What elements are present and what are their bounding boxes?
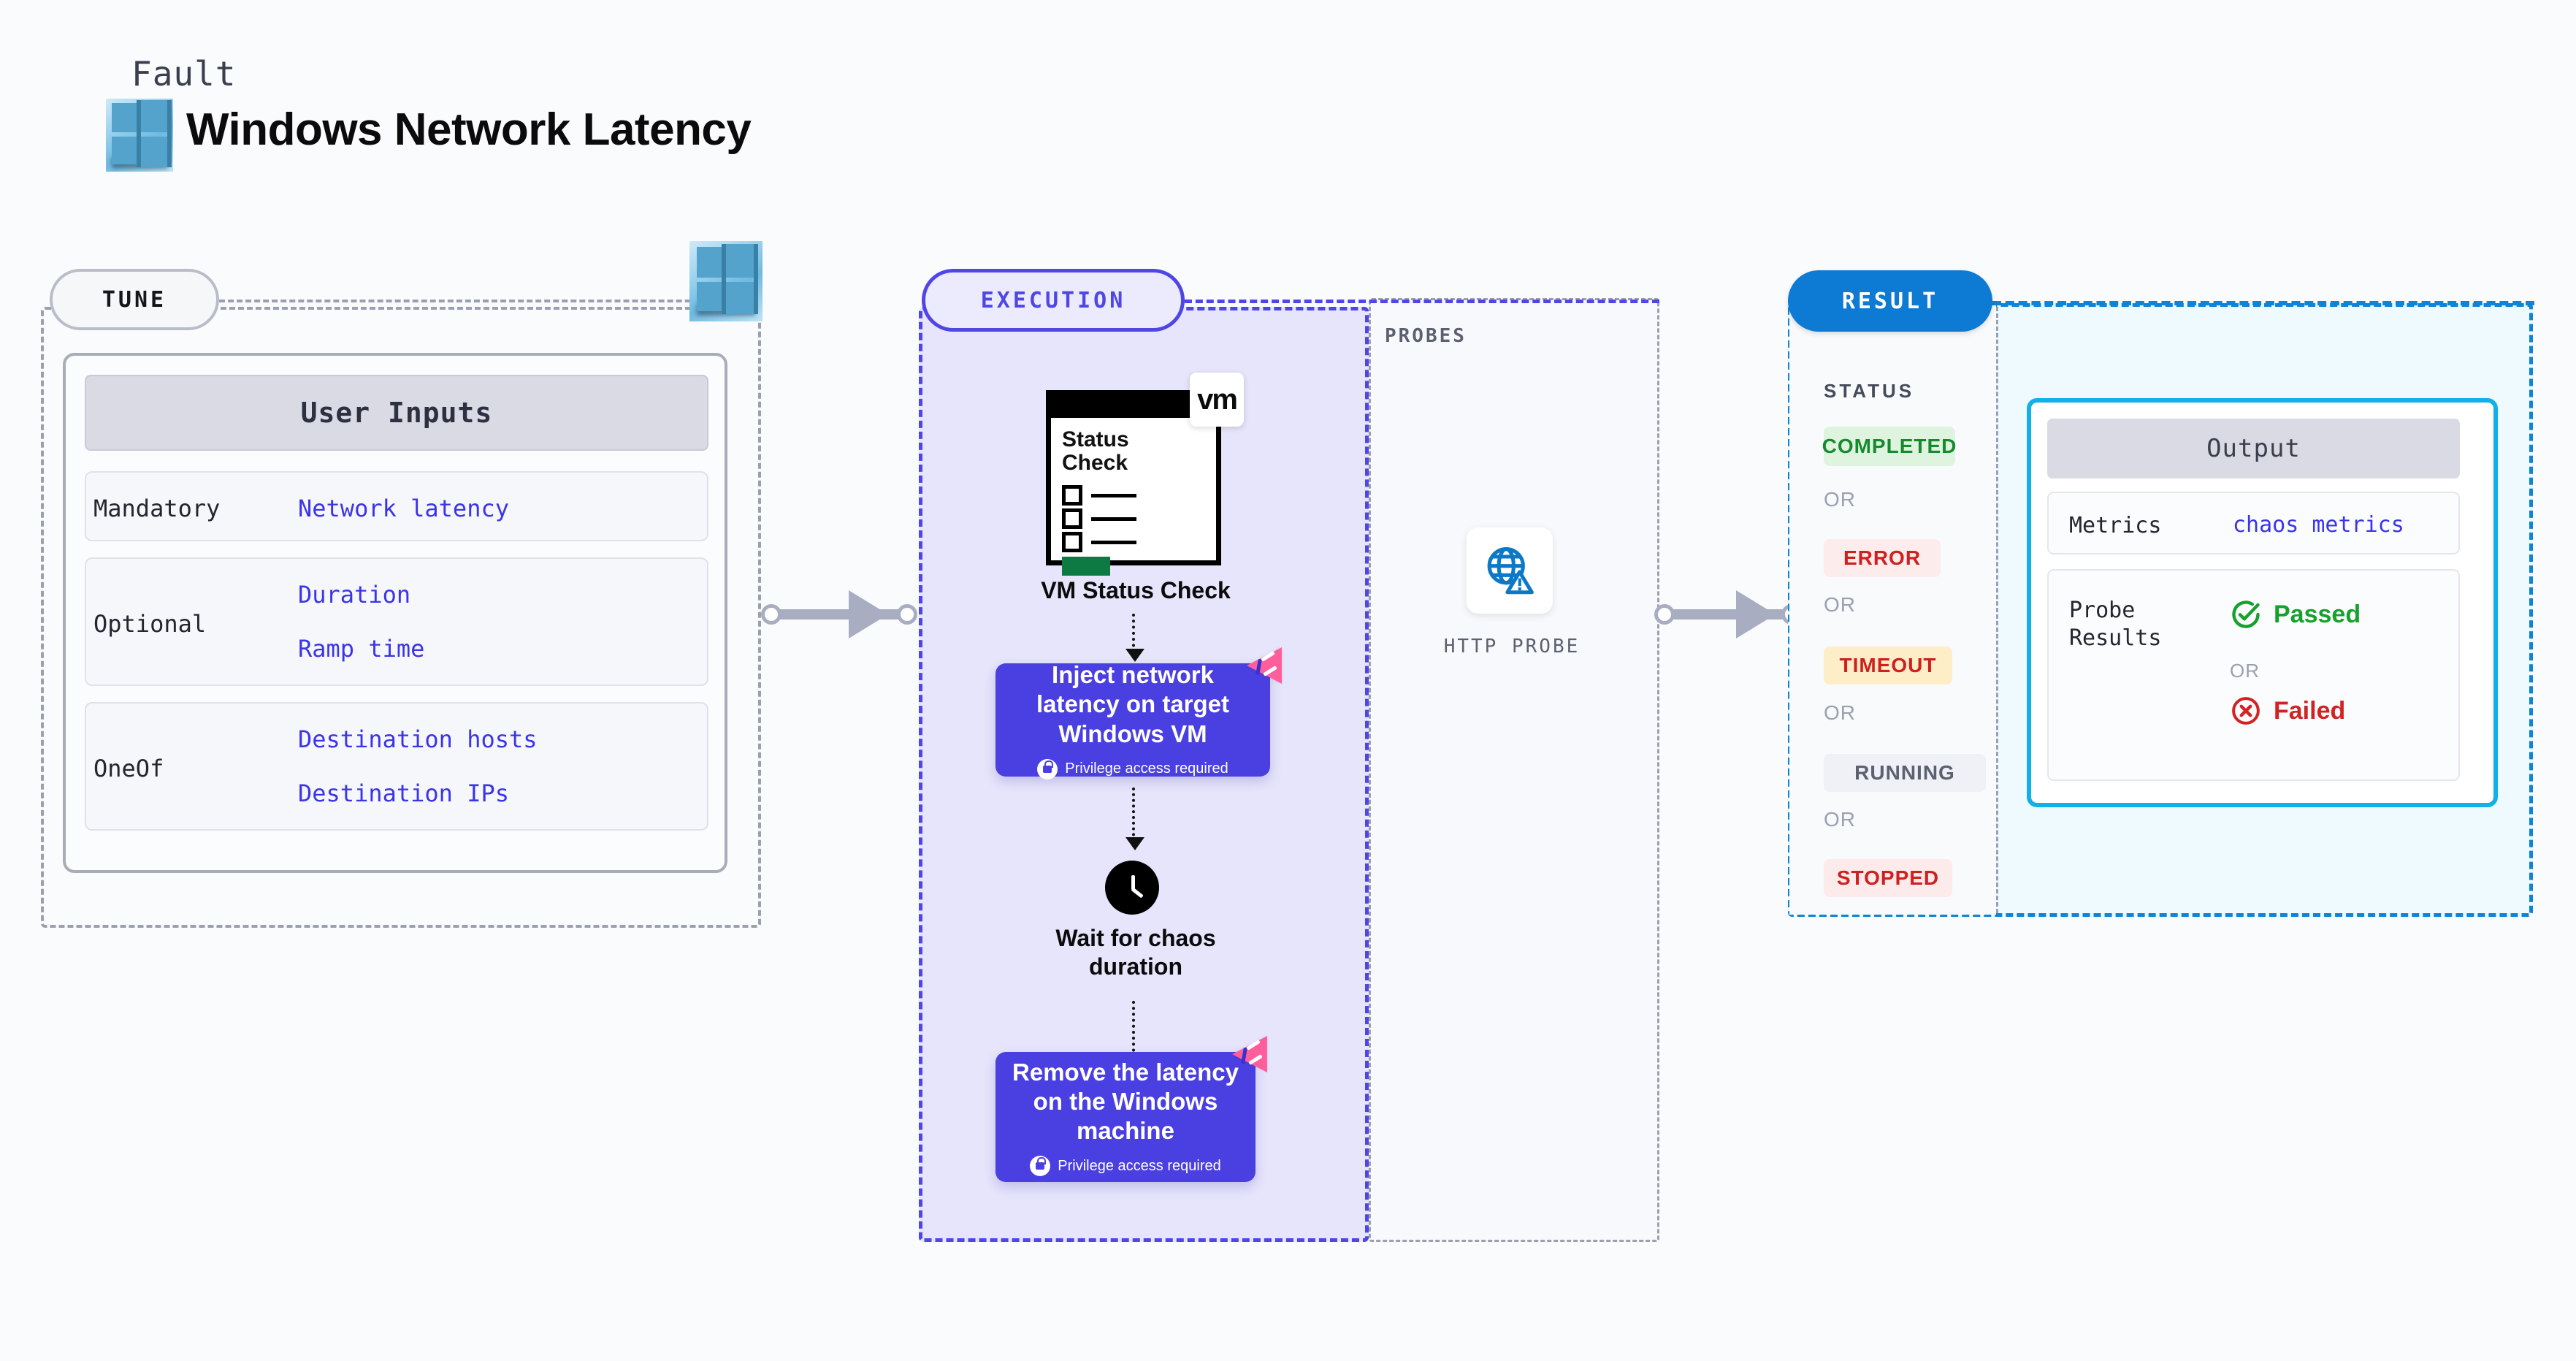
status-badge-timeout: TIMEOUT <box>1824 647 1952 685</box>
inject-latency-title: Inject network latency on target Windows… <box>995 660 1270 749</box>
result-section-pill[interactable]: RESULT <box>1788 270 1992 332</box>
user-input-row-values: Network latency <box>298 495 509 522</box>
execution-leader-line <box>1185 300 1659 303</box>
windows-logo-icon <box>106 99 173 172</box>
status-or-label: OR <box>1824 808 1856 831</box>
vm-status-check-caption: VM Status Check <box>1008 577 1264 604</box>
output-title: Output <box>2047 419 2460 479</box>
probe-result-failed-label: Failed <box>2274 697 2345 725</box>
user-input-row-label: Mandatory <box>93 495 220 522</box>
inject-latency-subtext: Privilege access required <box>1065 760 1228 777</box>
status-label: STATUS <box>1824 380 1914 403</box>
lock-icon <box>1037 759 1058 779</box>
connector-probes-to-result <box>1654 598 1800 631</box>
user-input-value[interactable]: Network latency <box>298 495 509 522</box>
globe-warning-icon[interactable] <box>1467 527 1553 614</box>
probes-region <box>1369 298 1659 1242</box>
check-circle-icon <box>2230 598 2262 630</box>
inject-latency-subtext-row: Privilege access required <box>1037 759 1228 779</box>
connector-dot <box>897 604 917 625</box>
page-header: Fault Windows Network Latency <box>69 44 946 190</box>
probe-result-failed: Failed <box>2230 695 2345 727</box>
vm-doc-title: Status Check <box>1062 428 1201 474</box>
execution-section-pill[interactable]: EXECUTION <box>922 269 1185 332</box>
probes-section-label: PROBES <box>1385 325 1467 347</box>
user-input-value[interactable]: Destination IPs <box>298 779 538 807</box>
user-input-row-values: Destination hosts Destination IPs <box>298 725 538 807</box>
user-input-value[interactable]: Duration <box>298 581 424 609</box>
probe-result-passed-label: Passed <box>2274 601 2361 629</box>
status-badge-stopped: STOPPED <box>1824 859 1952 897</box>
globe-warning-glyph <box>1482 543 1537 598</box>
status-badge-error: ERROR <box>1824 539 1941 577</box>
user-inputs-card: User Inputs Mandatory Network latency Op… <box>63 353 727 873</box>
http-probe-caption: HTTP PROBE <box>1410 636 1614 657</box>
connector-dot <box>761 604 781 625</box>
remove-latency-title: Remove the latency on the Windows machin… <box>995 1058 1255 1146</box>
result-column-divider <box>1996 307 1998 913</box>
x-circle-icon <box>2230 695 2262 727</box>
remove-latency-subtext: Privilege access required <box>1058 1158 1220 1175</box>
remove-latency-node[interactable]: Remove the latency on the Windows machin… <box>995 1052 1255 1182</box>
user-input-row-values: Duration Ramp time <box>298 581 424 663</box>
vm-status-check-icon: Status Check vm <box>1046 390 1221 565</box>
tune-leader-line <box>219 300 761 302</box>
user-input-value[interactable]: Destination hosts <box>298 725 538 753</box>
user-input-value[interactable]: Ramp time <box>298 635 424 663</box>
harness-logo-icon <box>1247 647 1288 684</box>
status-or-label: OR <box>1824 593 1856 617</box>
user-inputs-title: User Inputs <box>85 375 708 451</box>
lock-icon <box>1030 1156 1050 1176</box>
status-or-label: OR <box>1824 488 1856 511</box>
inject-latency-node[interactable]: Inject network latency on target Windows… <box>995 663 1270 777</box>
harness-logo-icon <box>1232 1036 1273 1072</box>
output-card: Output Metrics chaos metrics Probe Resul… <box>2027 398 2498 807</box>
windows-logo-icon <box>689 241 763 321</box>
flow-arrow-vm-to-inject <box>1132 614 1135 659</box>
status-badge-completed: COMPLETED <box>1824 427 1955 466</box>
fault-kicker-label: Fault <box>131 54 236 94</box>
result-leader-line <box>1992 301 2534 305</box>
probe-result-passed: Passed <box>2230 598 2361 630</box>
output-probe-results-label: Probe Results <box>2069 597 2179 652</box>
tune-section-pill[interactable]: TUNE <box>50 269 219 330</box>
user-input-row-label: Optional <box>93 610 206 638</box>
status-or-label: OR <box>1824 701 1856 725</box>
wait-duration-caption: Wait for chaos duration <box>1008 924 1264 981</box>
vmware-vm-icon: vm <box>1190 373 1244 427</box>
flow-arrow-inject-to-wait <box>1132 788 1135 847</box>
page-title: Windows Network Latency <box>186 104 751 156</box>
user-input-row-label: OneOf <box>93 755 164 782</box>
remove-latency-subtext-row: Privilege access required <box>1030 1156 1220 1176</box>
clock-icon <box>1105 861 1159 915</box>
output-metrics-label: Metrics <box>2069 512 2161 540</box>
output-metrics-value[interactable]: chaos metrics <box>2233 512 2404 538</box>
status-badge-running: RUNNING <box>1824 754 1986 792</box>
connector-tune-to-execution <box>761 598 922 631</box>
connector-dot <box>1654 604 1675 625</box>
probe-result-or-label: OR <box>2230 660 2260 682</box>
